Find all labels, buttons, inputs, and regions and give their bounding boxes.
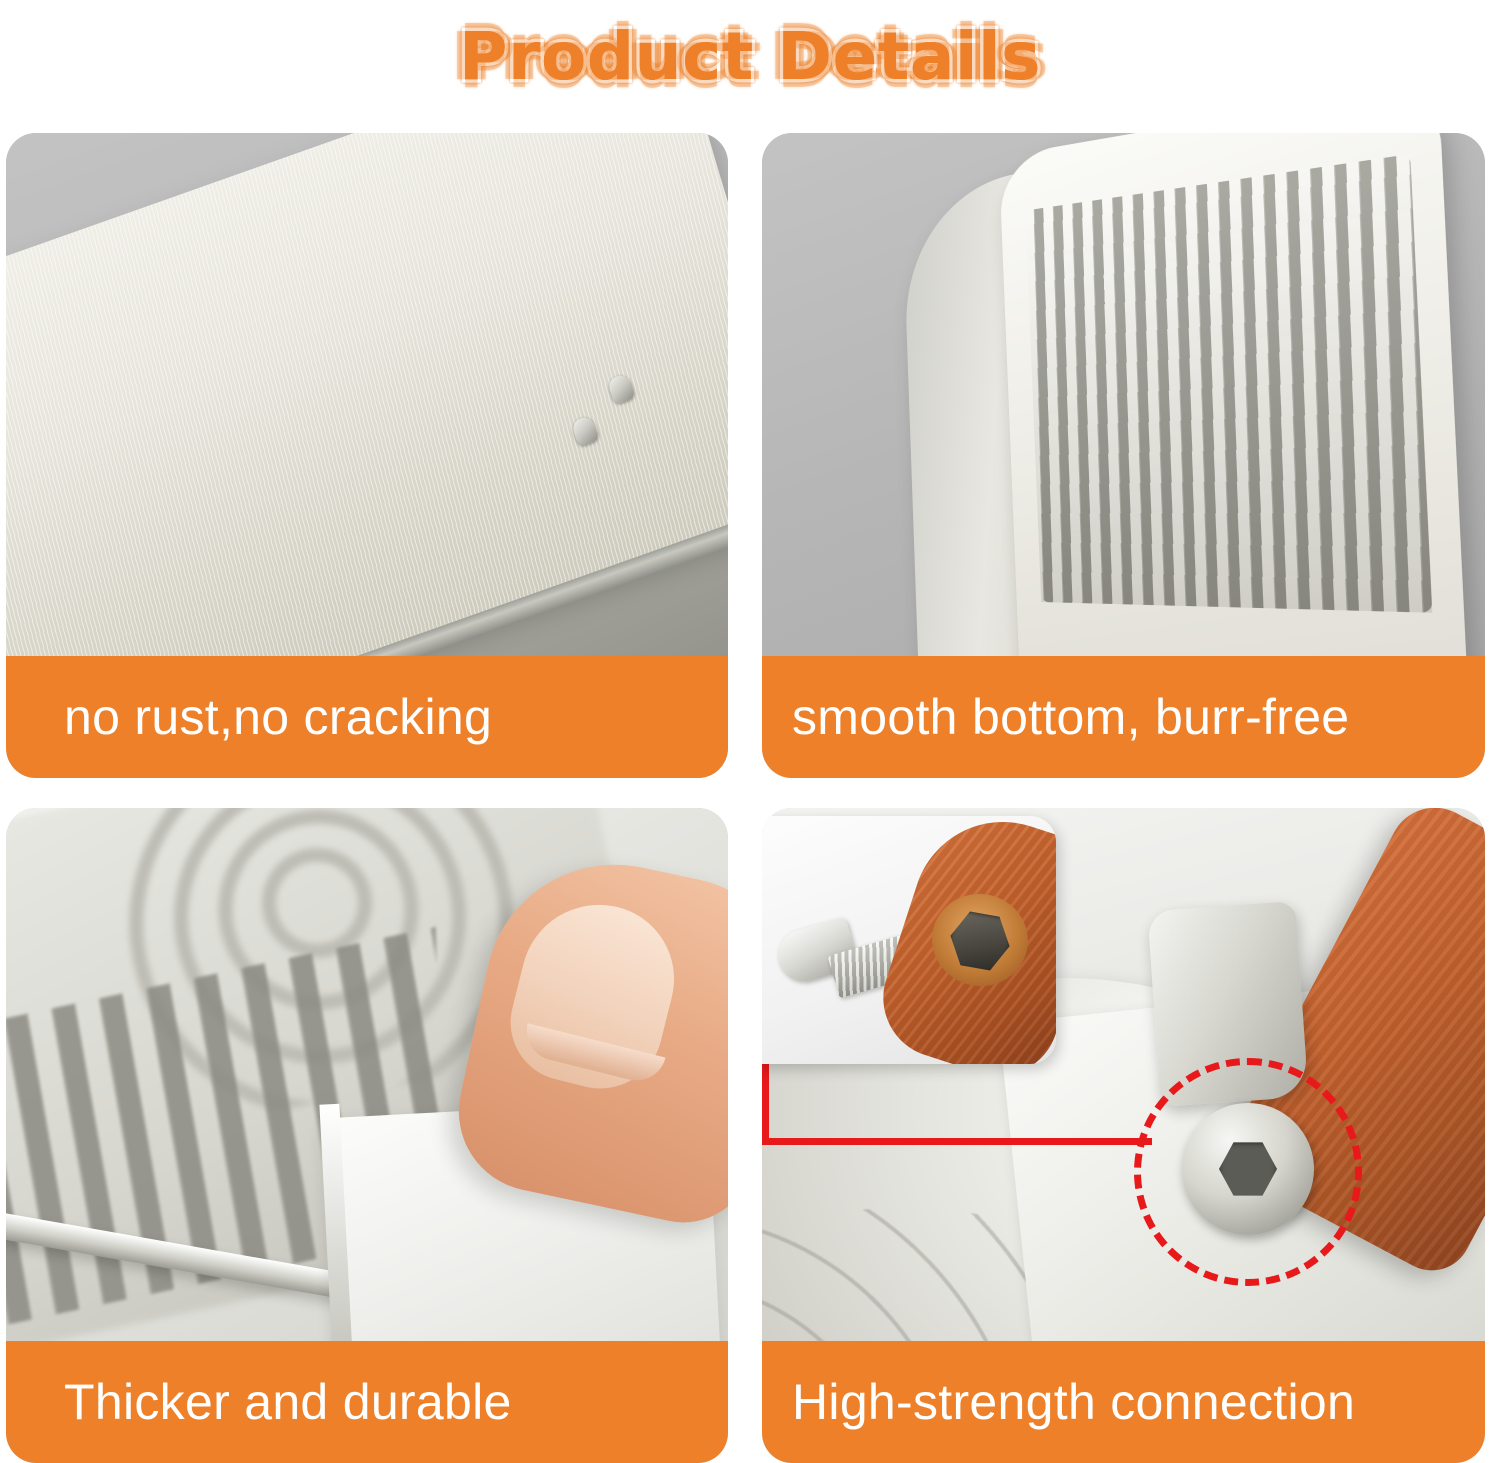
page-title-bar: Product Details [0,0,1500,112]
page-title: Product Details [459,18,1041,95]
inset-bolt-and-handle-socket [762,816,1056,1064]
panel-caption: High-strength connection [762,1341,1485,1463]
feature-panel-grid: no rust,no cracking smoo [0,133,1500,1463]
slot-array [1025,154,1432,613]
red-dashed-highlight-circle [1134,1058,1362,1286]
feature-panel-smooth-bottom-burr-free[interactable]: smooth bottom, burr-free [762,133,1485,778]
feature-panel-no-rust-no-cracking[interactable]: no rust,no cracking [6,133,728,778]
feature-panel-thicker-and-durable[interactable]: Thicker and durable [6,808,728,1463]
panel-caption: smooth bottom, burr-free [762,656,1485,778]
panel-caption: no rust,no cracking [6,656,728,778]
callout-line-horizontal [762,1138,1152,1145]
panel-caption: Thicker and durable [6,1341,728,1463]
feature-panel-high-strength-connection[interactable]: High-strength connection [762,808,1485,1463]
product-details-infographic: Product Details no rust,no cracking [0,0,1500,1463]
